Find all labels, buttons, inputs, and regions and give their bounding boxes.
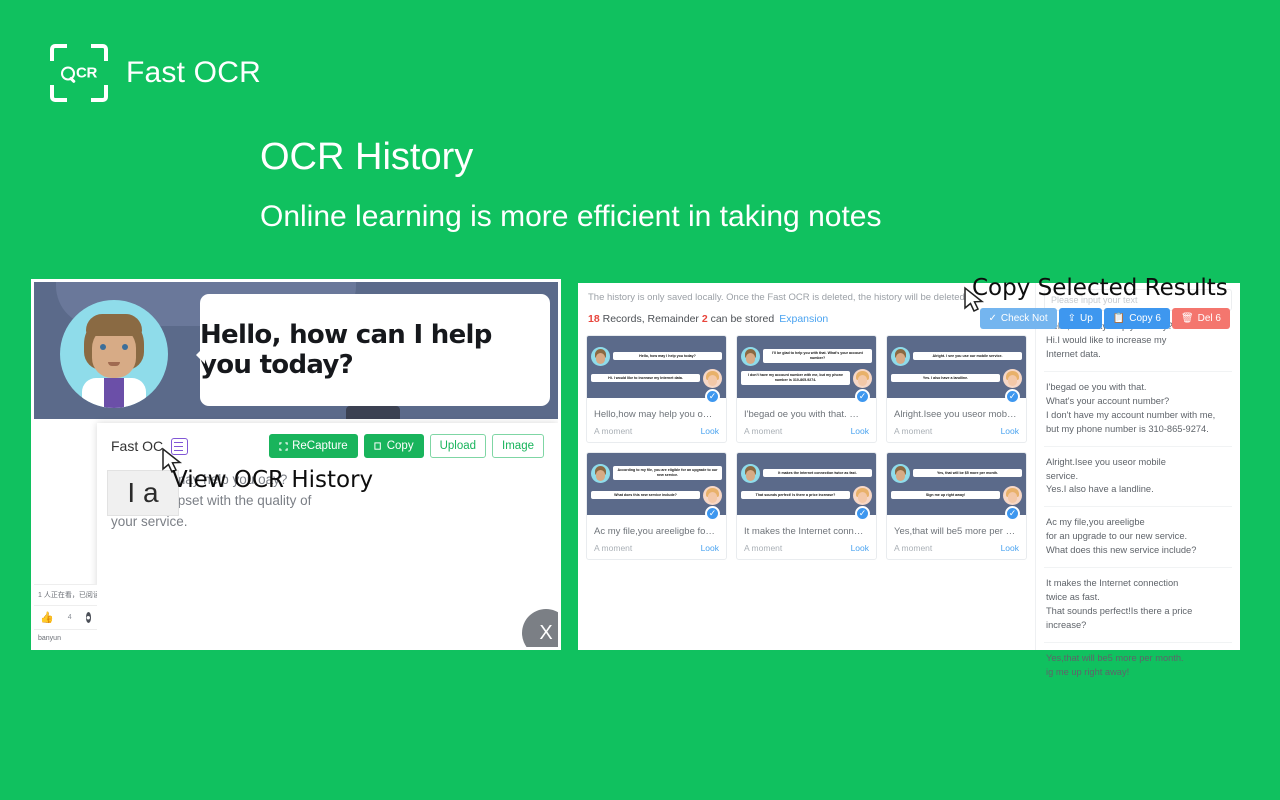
card-timestamp: A moment [894, 426, 932, 436]
card-look-link[interactable]: Look [851, 426, 869, 436]
annotation-left: View OCR History [172, 467, 373, 493]
card-thumbnail: It makes the Internet connection twice a… [737, 453, 876, 515]
delete-selected-label: Del 6 [1198, 313, 1221, 324]
recapture-label: ReCapture [292, 440, 348, 452]
card-timestamp: A moment [594, 543, 632, 553]
post-footer: 1 人正在看，已阅读 👍 4 ● banyun [34, 584, 97, 647]
page-subtitle: Online learning is more efficient in tak… [260, 200, 881, 234]
brand-name: Fast OCR [126, 56, 261, 90]
thumb-bubble-bottom: That sounds perfect! Is there a price in… [741, 491, 850, 500]
record-suffix: can be stored [711, 313, 775, 325]
results-sidebar: Please input your text Hello,how may hel… [1035, 283, 1240, 650]
thumb-bubble-top: It makes the Internet connection twice a… [763, 469, 872, 478]
thumb-avatar-agent [591, 347, 610, 366]
history-grid-wrap: Hello, how may I help you today? Hi. I w… [578, 335, 1035, 650]
card-text: I'begad oe you with that. … [744, 409, 869, 420]
copy-selected-label: Copy 6 [1129, 313, 1161, 324]
card-checkbox-checked[interactable]: ✓ [855, 389, 870, 404]
thumb-avatar-agent [591, 464, 610, 483]
slide-root: CR Fast OCR OCR History Online learning … [0, 0, 1280, 800]
avatar [60, 300, 168, 408]
post-meta-text: 1 人正在看，已阅读 [34, 584, 97, 605]
card-text: Hello,how may help you o… [594, 409, 719, 420]
speech-bubble-text: Hello, how can I help you today? [200, 320, 550, 380]
thumb-bubble-bottom: What does this new service include? [591, 491, 700, 500]
post-actions: 👍 4 ● [34, 605, 97, 629]
card-thumbnail: Yes, that will be $5 more per month. Sig… [887, 453, 1026, 515]
card-look-link[interactable]: Look [1001, 426, 1019, 436]
thumb-avatar-customer [853, 369, 872, 388]
card-text: Yes,that will be5 more per … [894, 526, 1019, 537]
thumb-avatar-agent [741, 347, 760, 366]
recapture-icon [279, 442, 288, 451]
up-button[interactable]: ⇪ Up [1059, 308, 1102, 329]
copy-icon: 📋 [1113, 313, 1125, 324]
delete-selected-button[interactable]: 🗑 Del 6 [1172, 308, 1230, 329]
card-thumbnail: I'll be glad to help you with that. What… [737, 336, 876, 398]
brand-logo: CR Fast OCR [50, 44, 261, 102]
frame-corner-br [91, 85, 108, 102]
card-timestamp: A moment [744, 543, 782, 553]
card-look-link[interactable]: Look [701, 543, 719, 553]
thumb-bubble-bottom: Hi. I would like to increase my Internet… [591, 374, 700, 383]
history-card[interactable]: It makes the Internet connection twice a… [736, 452, 877, 560]
expansion-link[interactable]: Expansion [779, 313, 828, 325]
card-checkbox-checked[interactable]: ✓ [1005, 506, 1020, 521]
card-thumbnail: According to my file, you are eligible f… [587, 453, 726, 515]
page-title: OCR History [260, 136, 473, 179]
thumb-avatar-customer [853, 486, 872, 505]
card-checkbox-checked[interactable]: ✓ [705, 506, 720, 521]
thumb-bubble-bottom: Yes. I also have a landline. [891, 374, 1000, 383]
thumb-avatar-customer [1003, 369, 1022, 388]
thumb-avatar-customer [1003, 486, 1022, 505]
copy-label: Copy [387, 440, 414, 452]
record-count: 18 [588, 313, 600, 325]
history-toolbar: ✓ Check Not ⇪ Up 📋 Copy 6 🗑 Del 6 [980, 308, 1230, 329]
thumb-bubble-top: Hello, how may I help you today? [613, 352, 722, 361]
result-block: Yes,that will be5 more per month. ig me … [1044, 643, 1232, 689]
annotation-right: Copy Selected Results [972, 275, 1228, 301]
image-button[interactable]: Image [492, 434, 544, 458]
thumb-bubble-top: I'll be glad to help you with that. What… [763, 349, 872, 363]
record-prefix: Records, Remainder [603, 313, 699, 325]
laptop-shape [346, 406, 400, 419]
illustration-area: Hello, how can I help you today? [34, 282, 558, 419]
copy-selected-button[interactable]: 📋 Copy 6 [1104, 308, 1170, 329]
check-icon: ✓ [989, 313, 997, 324]
card-text: Ac my file,you areeligbe fo… [594, 526, 719, 537]
check-not-button[interactable]: ✓ Check Not [980, 308, 1057, 329]
thumbs-up-icon[interactable]: 👍 [40, 611, 54, 624]
result-block: It makes the Internet connection twice a… [1044, 568, 1232, 643]
card-timestamp: A moment [744, 426, 782, 436]
history-grid: Hello, how may I help you today? Hi. I w… [586, 335, 1027, 560]
card-look-link[interactable]: Look [1001, 543, 1019, 553]
card-checkbox-checked[interactable]: ✓ [705, 389, 720, 404]
ocr-card-title: Fast OC [111, 438, 163, 454]
record-remainder: 2 [702, 313, 708, 325]
thumb-avatar-agent [891, 347, 910, 366]
left-screenshot-panel: Hello, how can I help you today? Fast OC… [31, 279, 561, 650]
card-timestamp: A moment [894, 543, 932, 553]
result-block: I'begad oe you with that. What's your ac… [1044, 372, 1232, 447]
thumb-bubble-top: According to my file, you are eligible f… [613, 466, 722, 480]
like-count: 4 [68, 614, 72, 621]
card-text: It makes the Internet conn… [744, 526, 869, 537]
thumb-bubble-bottom: Sign me up right away! [891, 491, 1000, 500]
trash-icon: 🗑 [1181, 313, 1194, 324]
recapture-button[interactable]: ReCapture [269, 434, 358, 458]
history-card[interactable]: I'll be glad to help you with that. What… [736, 335, 877, 443]
thumb-avatar-agent [741, 464, 760, 483]
scan-frame-icon: CR [50, 44, 108, 102]
more-icon[interactable]: ● [86, 612, 91, 623]
copy-icon [374, 442, 383, 451]
upload-button[interactable]: Upload [430, 434, 486, 458]
history-window: The history is only saved locally. Once … [578, 283, 1240, 650]
up-icon: ⇪ [1068, 313, 1076, 324]
thumb-avatar-agent [891, 464, 910, 483]
card-thumbnail: Alright. I see you use our mobile servic… [887, 336, 1026, 398]
card-checkbox-checked[interactable]: ✓ [855, 506, 870, 521]
history-card[interactable]: Alright. I see you use our mobile servic… [886, 335, 1027, 443]
result-block: Alright.Isee you useor mobile service. Y… [1044, 447, 1232, 508]
thumb-bubble-top: Yes, that will be $5 more per month. [913, 469, 1022, 478]
thumb-avatar-customer [703, 486, 722, 505]
up-label: Up [1080, 313, 1093, 324]
frame-corner-tr [91, 44, 108, 61]
logo-ocr-text: CR [76, 65, 97, 82]
history-card[interactable]: Yes, that will be $5 more per month. Sig… [886, 452, 1027, 560]
card-look-link[interactable]: Look [701, 426, 719, 436]
speech-bubble: Hello, how can I help you today? [200, 294, 550, 406]
frame-corner-bl [50, 85, 67, 102]
thumb-bubble-top: Alright. I see you use our mobile servic… [913, 352, 1022, 361]
card-timestamp: A moment [594, 426, 632, 436]
card-look-link[interactable]: Look [851, 543, 869, 553]
magnifier-icon [61, 66, 75, 80]
post-username: banyun [34, 629, 97, 647]
result-block: Ac my file,you areeligbe for an upgrade … [1044, 507, 1232, 568]
history-card[interactable]: According to my file, you are eligible f… [586, 452, 727, 560]
check-not-label: Check Not [1001, 313, 1048, 324]
copy-button[interactable]: Copy [364, 434, 424, 458]
thumb-bubble-bottom: I don't have my account number with me, … [741, 371, 850, 385]
history-card[interactable]: Hello, how may I help you today? Hi. I w… [586, 335, 727, 443]
card-checkbox-checked[interactable]: ✓ [1005, 389, 1020, 404]
thumb-avatar-customer [703, 369, 722, 388]
card-thumbnail: Hello, how may I help you today? Hi. I w… [587, 336, 726, 398]
card-text: Alright.Isee you useor mob… [894, 409, 1019, 420]
frame-corner-tl [50, 44, 67, 61]
